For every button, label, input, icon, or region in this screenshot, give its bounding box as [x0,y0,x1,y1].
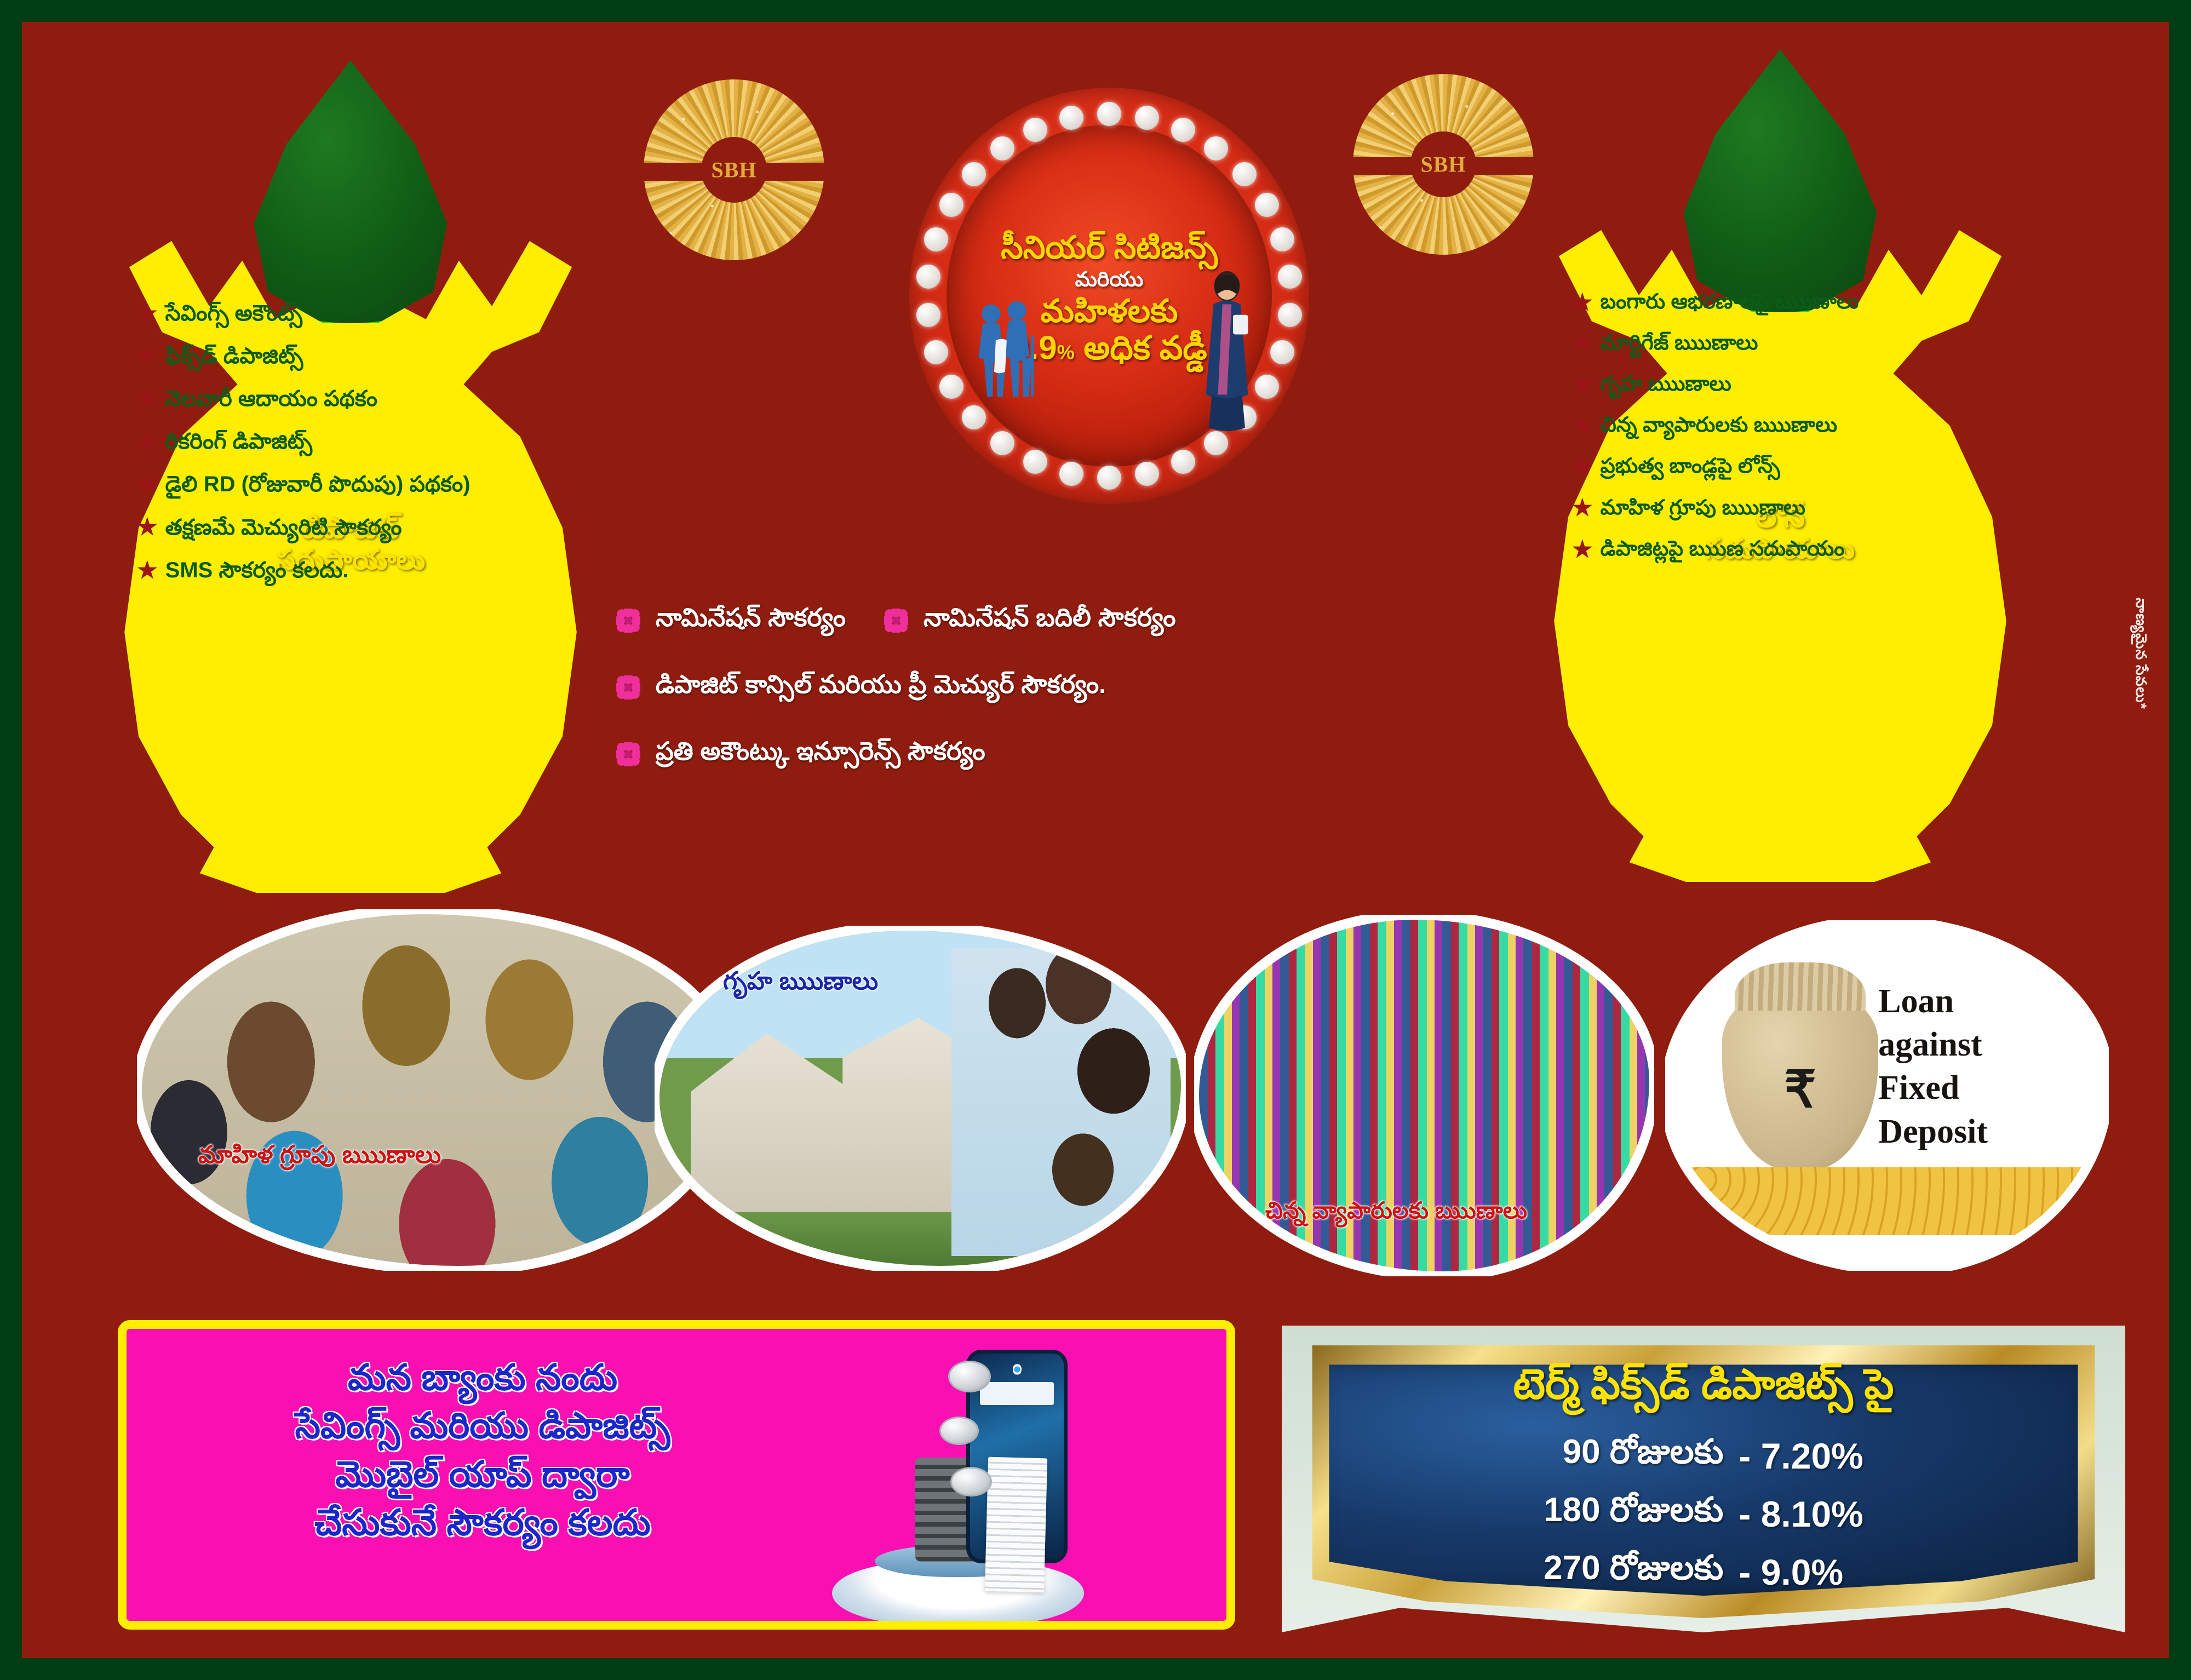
facility-item[interactable]: డిపాజిట్ కాన్సిల్ మరియు ప్రీ మెచ్యుర్ సౌ… [616,669,1106,706]
bulb-icon [1135,462,1159,486]
bulb-icon [1023,118,1047,142]
facility-item[interactable]: ప్రతి అకౌంట్కు ఇన్సూరెన్స్ సౌకర్యం [616,736,985,772]
mobile-line-2: సేవింగ్స్ మరియు డిపాజిట్స్ [159,1401,806,1449]
facilities-row: నామినేషన్ సౌకర్యం నామినేషన్ బదిలీ సౌకర్య… [616,603,1575,639]
list-item[interactable]: ★నెలవారీ ఆదాయం పథకం [137,387,575,411]
photo-loan-against-fd: Loan against Fixed Deposit [1665,920,2109,1271]
table-row: 270 రోజులకు - 9.0% [1544,1543,1863,1601]
mobile-app-panel[interactable]: మన బ్యాంకు నందు సేవింగ్స్ మరియు డిపాజిట్… [118,1320,1235,1630]
photo-caption: చిన్న వ్యాపారులకు ఋుణాలు [1265,1197,1527,1230]
list-item-label: సేవింగ్స్ అకౌంట్స్ [165,302,302,325]
star-icon: ★ [137,558,158,582]
list-item[interactable]: ★సేవింగ్స్ అకౌంట్స్ [137,301,575,325]
loan-pot: లోన్ సదుపాయాలు ★బంగారు ఆభరణాలపై ఋుణాలు ★… [1534,49,2027,882]
list-item[interactable]: ★డిపాజిట్లపై ఋుణ సదుపాయం [1572,537,2005,561]
gold-coins-icon [1688,1167,2096,1235]
star-icon: ★ [137,387,158,411]
deposit-leaf-icon [236,60,466,323]
list-item[interactable]: ★డైలి RD (రోజువారీ పొదుపు) పథకం) [137,472,575,496]
offer-rate-suffix: అధిక వడ్డీ [1083,330,1207,366]
list-item[interactable]: ★మార్టిగేజ్ ఋుణాలు [1572,331,2005,356]
rate-value: - 7.20% [1739,1427,1863,1485]
bulb-icon [1232,162,1257,186]
list-item-label: రికరింగ్ డిపాజిట్స్ [165,430,312,453]
facility-label: డిపాజిట్ కాన్సిల్ మరియు ప్రీ మెచ్యుర్ సౌ… [656,669,1106,706]
fd-line3: Fixed [1878,1067,2078,1110]
list-item[interactable]: ★SMS సౌకర్యం కలదు. [137,558,575,582]
photo-home-loan: గృహ ఋుణాలు [655,926,1186,1271]
sbh-logo-icon: SBH [644,79,824,260]
mobile-app-text: మన బ్యాంకు నందు సేవింగ్స్ మరియు డిపాజిట్… [159,1353,806,1547]
rate-term: 90 రోజులకు [1544,1427,1739,1485]
mobile-line-4: చేసుకునే సౌకర్యం కలదు [159,1498,806,1546]
bulb-icon [1171,450,1195,474]
loan-feature-list: ★బంగారు ఆభరణాలపై ఋుణాలు ★మార్టిగేజ్ ఋుణా… [1534,290,2027,578]
list-item[interactable]: ★మాహిళ గ్రూపు ఋుణాలు [1572,496,2005,520]
list-item[interactable]: ★తక్షణమే మెచ్యురిటి సౌకర్యం [137,515,575,539]
list-item[interactable]: ★ప్రభుత్వ బాండ్లపై లోన్స్ [1572,455,2005,479]
facility-item[interactable]: నామినేషన్ సౌకర్యం [616,603,846,639]
coin-icon [948,1361,991,1392]
rate-term: 270 రోజులకు [1544,1543,1739,1601]
facilities-bullets: నామినేషన్ సౌకర్యం నామినేషన్ బదిలీ సౌకర్య… [616,603,1575,803]
sbh-logo-label: SBH [711,157,756,183]
bulb-icon [1023,450,1047,474]
rate-value: - 8.10% [1739,1485,1863,1543]
mobile-line-3: మొబైల్ యాప్ ద్వారా [159,1450,806,1498]
flower-bullet-icon [616,609,640,633]
flower-bullet-icon [616,675,640,699]
facility-label: నామినేషన్ బదిలీ సౌకర్యం [924,603,1176,639]
bulb-icon [990,136,1014,160]
bulb-icon [962,162,986,186]
bulb-icon [1135,106,1159,130]
list-item[interactable]: ★ఫిక్స్‌డ్ డిపాజిట్స్ [137,344,575,368]
rate-value: - 9.0% [1739,1543,1863,1601]
mobile-line-1: మన బ్యాంకు నందు [159,1353,806,1401]
list-item-label: చిన్న వ్యాపారులకు ఋుణాలు [1601,415,1838,437]
star-icon: ★ [137,301,158,325]
senior-citizen-offer-badge: సీనియర్ సిటిజన్స్ మరియు మహిళలకు 0.9% అధి… [909,88,1309,504]
sbh-logo-icon: SBH [1353,74,1534,255]
bulb-icon [1204,431,1228,455]
facilities-row: ప్రతి అకౌంట్కు ఇన్సూరెన్స్ సౌకర్యం [616,736,1575,772]
rates-title: టెర్మ్ ఫిక్స్‌డ్ డిపాజిట్స్ పై [1282,1361,2125,1419]
vertical-note: నాణ్యమైన సేవలు* [2129,598,2149,709]
bulb-icon [1171,118,1195,142]
offer-line1: సీనియర్ సిటిజన్స్ [909,231,1309,265]
deposit-pot: డిపాజిట్ సదుపాయాలు ★సేవింగ్స్ అకౌంట్స్ ★… [104,60,597,893]
list-item-label: మార్టిగేజ్ ఋుణాలు [1601,332,1758,354]
star-icon: ★ [1572,414,1593,438]
list-item-label: నెలవారీ ఆదాయం పథకం [165,387,377,410]
flower-bullet-icon [884,609,908,633]
star-icon: ★ [1572,331,1593,356]
table-row: 90 రోజులకు - 7.20% [1544,1427,1863,1485]
photo-caption: గృహ ఋుణాలు [723,967,878,1001]
star-icon: ★ [137,429,158,454]
list-item-label: డిపాజిట్లపై ఋుణ సదుపాయం [1601,538,1845,560]
star-icon: ★ [137,515,158,539]
bulb-icon [990,431,1014,455]
facilities-row: డిపాజిట్ కాన్సిల్ మరియు ప్రీ మెచ్యుర్ సౌ… [616,669,1575,706]
photo-caption: మాహిళ గ్రూపు ఋుణాలు [198,1140,441,1175]
bulb-icon [1059,462,1083,486]
star-icon: ★ [1572,537,1593,561]
bulb-icon [1255,193,1279,217]
rates-table: 90 రోజులకు - 7.20% 180 రోజులకు - 8.10% 2… [1544,1427,1863,1601]
bulb-icon [1059,106,1083,130]
star-icon: ★ [1572,372,1593,397]
list-item-label: తక్షణమే మెచ్యురిటి సౌకర్యం [165,516,402,539]
bulb-icon [1255,375,1279,399]
fd-bag-text: Loan against Fixed Deposit [1878,980,2078,1154]
fd-line4: Deposit [1878,1110,2078,1154]
podium-icon [832,1562,1084,1625]
photo-image: Loan against Fixed Deposit [1670,925,2104,1266]
receipt-icon [985,1457,1047,1593]
facility-label: నామినేషన్ సౌకర్యం [656,603,846,639]
percent-icon: % [1057,341,1075,364]
photo-women-group: మాహిళ గ్రూపు ఋుణాలు [137,909,734,1271]
woman-in-saree-icon [1197,268,1257,433]
star-icon: ★ [1572,455,1593,479]
star-icon: ★ [137,344,158,368]
list-item-label: SMS సౌకర్యం కలదు. [165,559,349,582]
fd-line1: Loan [1878,980,2078,1023]
bulb-icon [1097,102,1121,126]
phone-illustration [843,1340,1128,1625]
coin-icon [950,1467,992,1496]
facility-item[interactable]: నామినేషన్ బదిలీ సౌకర్యం [884,603,1176,639]
list-item-label: డైలి RD (రోజువారీ పొదుపు) పథకం) [165,473,471,496]
list-item[interactable]: ★బంగారు ఆభరణాలపై ఋుణాలు [1572,290,2005,314]
photo-small-business: చిన్న వ్యాపారులకు ఋుణాలు [1194,915,1654,1276]
bulb-icon [1097,466,1121,490]
term-deposit-rates-panel: టెర్మ్ ఫిక్స్‌డ్ డిపాజిట్స్ పై 90 రోజులక… [1282,1326,2125,1632]
table-row: 180 రోజులకు - 8.10% [1544,1485,1863,1543]
list-item[interactable]: ★చిన్న వ్యాపారులకు ఋుణాలు [1572,414,2005,438]
list-item-label: ప్రభుత్వ బాండ్లపై లోన్స్ [1601,456,1780,478]
star-icon: ★ [1572,496,1593,520]
coin-icon [939,1417,979,1445]
list-item-label: మాహిళ గ్రూపు ఋుణాలు [1601,497,1805,519]
poster-canvas: డిపాజిట్ సదుపాయాలు ★సేవింగ్స్ అకౌంట్స్ ★… [22,22,2169,1658]
list-item[interactable]: ★గృహ ఋుణాలు [1572,372,2005,397]
sbh-logo-label: SBH [1420,152,1466,177]
fd-line2: against [1878,1023,2078,1067]
list-item-label: బంగారు ఆభరణాలపై ఋుణాలు [1601,291,1859,313]
list-item-label: గృహ ఋుణాలు [1601,374,1731,395]
list-item[interactable]: ★రికరింగ్ డిపాజిట్స్ [137,429,575,454]
star-icon: ★ [137,472,158,496]
elderly-couple-icon [970,301,1041,411]
flower-bullet-icon [616,742,640,766]
loan-leaf-icon [1665,49,1895,312]
list-item-label: ఫిక్స్‌డ్ డిపాజిట్స్ [165,345,303,368]
deposit-feature-list: ★సేవింగ్స్ అకౌంట్స్ ★ఫిక్స్‌డ్ డిపాజిట్స… [104,301,597,601]
facility-label: ప్రతి అకౌంట్కు ఇన్సూరెన్స్ సౌకర్యం [656,736,985,772]
money-bag-icon [1722,987,1878,1171]
rate-term: 180 రోజులకు [1544,1485,1739,1543]
star-icon: ★ [1572,290,1593,314]
